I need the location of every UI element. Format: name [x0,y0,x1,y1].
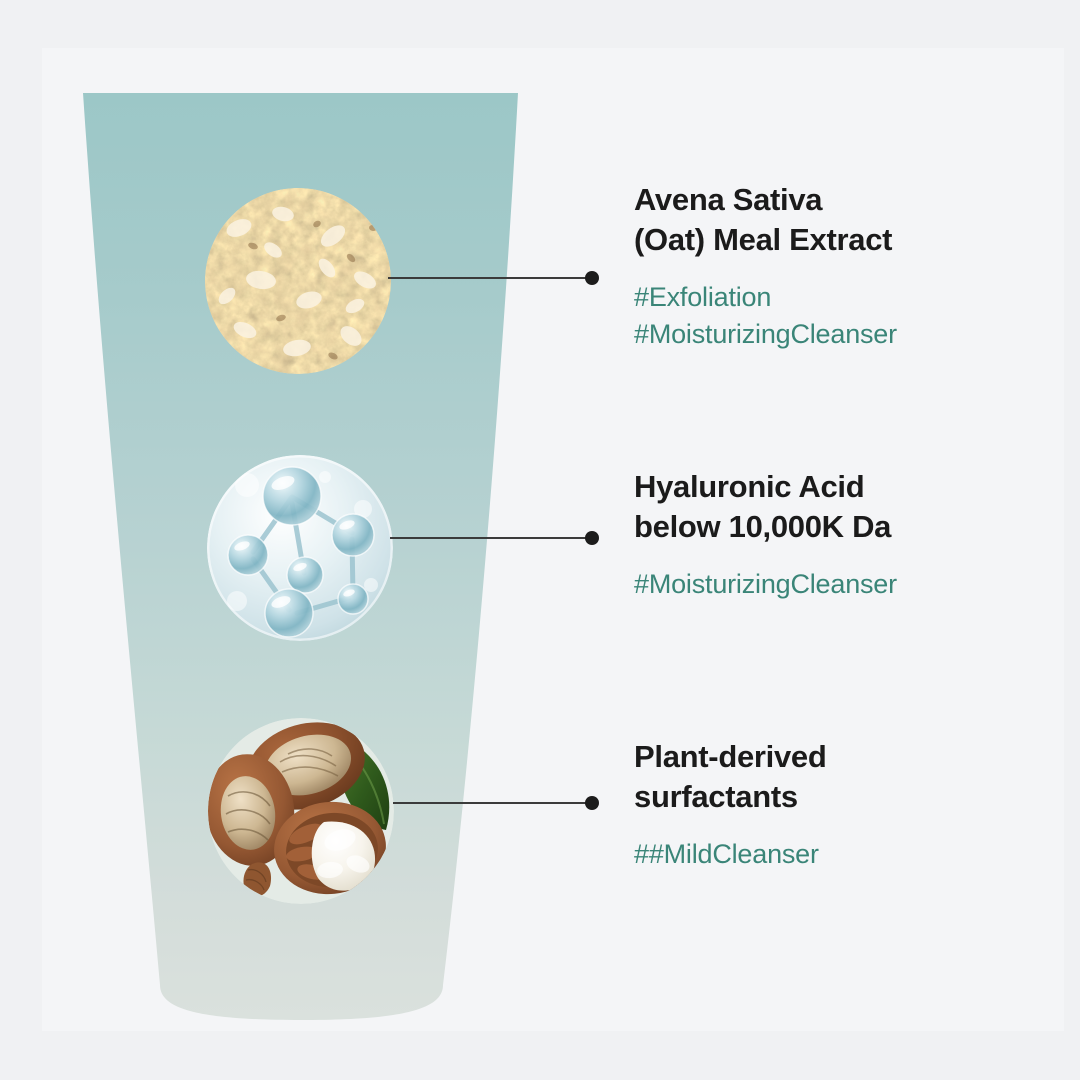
ingredient-title-3: Plant-derived surfactants [634,737,826,816]
leader-dot-2 [585,531,599,545]
hyaluronic-molecule-photo [207,455,393,641]
ingredient-tags-1: #Exfoliation #MoisturizingCleanser [634,279,897,351]
oat-flakes-photo [205,188,391,374]
infographic-canvas: Avena Sativa (Oat) Meal Extract #Exfolia… [0,0,1080,1080]
leader-line-3 [393,802,587,804]
ingredient-title-2: Hyaluronic Acid below 10,000K Da [634,467,897,546]
leader-dot-1 [585,271,599,285]
leader-dot-3 [585,796,599,810]
leader-line-1 [388,277,587,279]
shea-nuts-photo [208,718,394,904]
ingredient-tags-3: ##MildCleanser [634,836,826,872]
ingredient-text-2: Hyaluronic Acid below 10,000K Da #Moistu… [634,467,897,603]
ingredient-title-1: Avena Sativa (Oat) Meal Extract [634,180,897,259]
leader-line-2 [390,537,587,539]
ingredient-tags-2: #MoisturizingCleanser [634,566,897,602]
ingredient-text-1: Avena Sativa (Oat) Meal Extract #Exfolia… [634,180,897,352]
ingredient-text-3: Plant-derived surfactants ##MildCleanser [634,737,826,873]
